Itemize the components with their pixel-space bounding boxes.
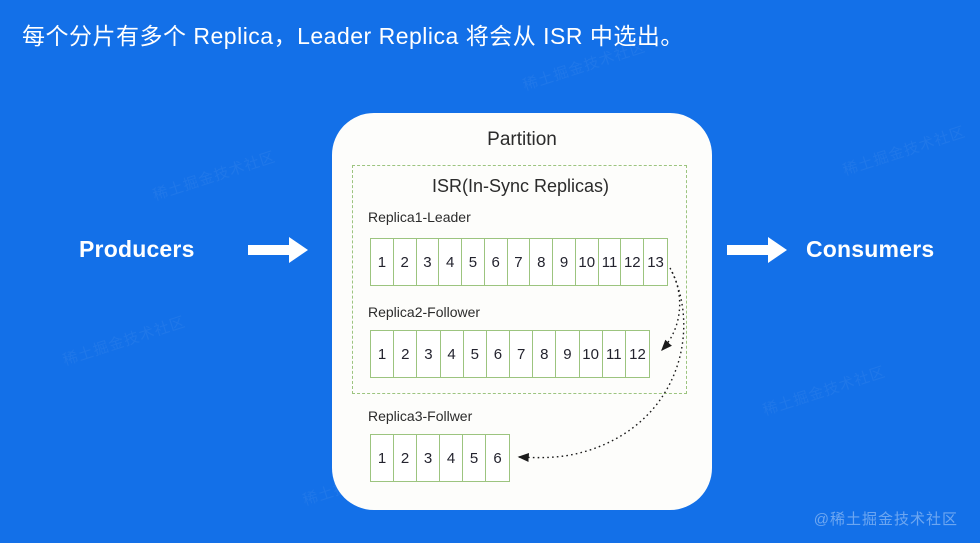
producer-flow-arrow-icon [248, 237, 308, 263]
producers-label: Producers [79, 236, 195, 263]
offset-cell: 7 [508, 239, 531, 285]
offset-cell: 9 [553, 239, 576, 285]
offset-cell: 1 [371, 435, 394, 481]
offset-cell: 5 [463, 435, 486, 481]
offset-cell: 10 [580, 331, 603, 377]
consumer-flow-arrow-icon [727, 237, 787, 263]
background-watermark: 稀土掘金技术社区 [840, 121, 968, 181]
offset-cell: 3 [417, 331, 440, 377]
background-watermark: 稀土掘金技术社区 [150, 146, 278, 206]
offset-cell: 12 [626, 331, 649, 377]
offset-cell: 6 [486, 435, 509, 481]
slide-title: 每个分片有多个 Replica，Leader Replica 将会从 ISR 中… [22, 17, 684, 51]
partition-title: Partition [332, 129, 712, 151]
offset-cell: 2 [394, 331, 417, 377]
offset-cell: 3 [417, 435, 440, 481]
offset-cell: 6 [485, 239, 508, 285]
offset-cell: 13 [644, 239, 667, 285]
slide-canvas: 稀土掘金技术社区 稀土掘金技术社区 稀土掘金技术社区 稀土掘金技术社区 稀土掘金… [0, 0, 980, 543]
replica-label-3: Replica3-Follwer [368, 408, 472, 424]
offset-cell: 2 [394, 239, 417, 285]
offset-cell: 4 [439, 239, 462, 285]
offset-cell: 8 [533, 331, 556, 377]
corner-watermark: @稀土掘金技术社区 [814, 508, 958, 529]
offset-cell: 6 [487, 331, 510, 377]
offset-cell: 10 [576, 239, 599, 285]
offset-cell: 5 [464, 331, 487, 377]
replica-offset-row-3: 123456 [370, 434, 510, 482]
replica-offset-row-1: 12345678910111213 [370, 238, 668, 286]
isr-title: ISR(In-Sync Replicas) [353, 176, 688, 197]
offset-cell: 3 [417, 239, 440, 285]
offset-cell: 12 [621, 239, 644, 285]
offset-cell: 11 [603, 331, 626, 377]
replica-offset-row-2: 123456789101112 [370, 330, 650, 378]
replica-label-2: Replica2-Follower [368, 304, 480, 320]
consumers-label: Consumers [806, 236, 934, 263]
background-watermark: 稀土掘金技术社区 [760, 361, 888, 421]
replica-label-1: Replica1-Leader [368, 209, 471, 225]
offset-cell: 11 [599, 239, 622, 285]
offset-cell: 5 [462, 239, 485, 285]
offset-cell: 1 [371, 239, 394, 285]
offset-cell: 1 [371, 331, 394, 377]
background-watermark: 稀土掘金技术社区 [60, 311, 188, 371]
offset-cell: 4 [440, 435, 463, 481]
offset-cell: 4 [441, 331, 464, 377]
offset-cell: 9 [556, 331, 579, 377]
offset-cell: 7 [510, 331, 533, 377]
offset-cell: 8 [530, 239, 553, 285]
offset-cell: 2 [394, 435, 417, 481]
